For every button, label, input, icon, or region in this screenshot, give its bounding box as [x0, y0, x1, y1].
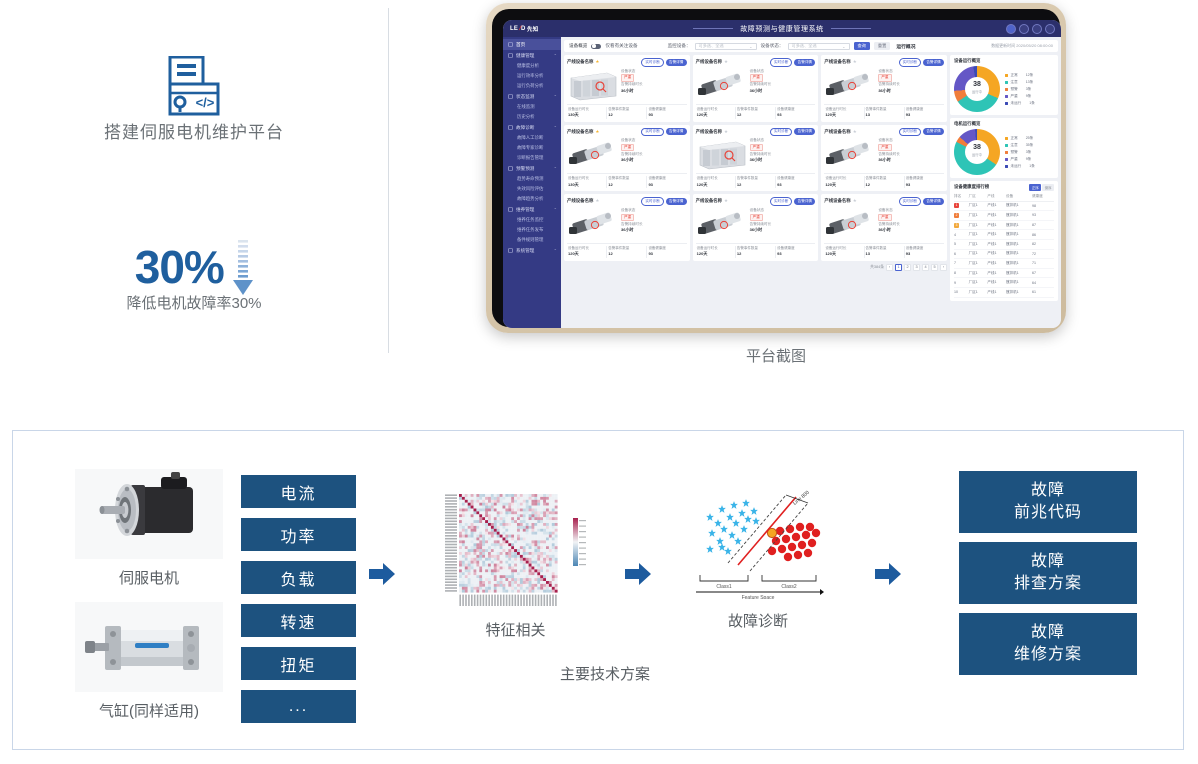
- ranking-column-header: 健康度: [1032, 193, 1054, 202]
- ranking-column-header: 排名: [954, 193, 969, 202]
- card-header: 产线设备名称★实时诊断告警详情: [696, 197, 816, 206]
- card-body: 设备状态严重告警持续时长36小时: [567, 208, 687, 241]
- sidebar-item-label: 健康管理: [516, 53, 534, 59]
- sidebar-item[interactable]: 维养管理⌃: [503, 204, 561, 215]
- status-label: 设备状态: [750, 138, 764, 142]
- card-status-meta: 设备状态严重告警持续时长36小时: [750, 138, 816, 171]
- duration-label: 告警持续时长: [750, 82, 772, 86]
- legend-label: 未运行: [1011, 101, 1022, 106]
- device-cell: 搅拌机1: [1006, 259, 1032, 269]
- user-icon[interactable]: [1006, 24, 1016, 34]
- title-rule-left: [693, 28, 733, 29]
- legend-swatch: [1005, 144, 1008, 147]
- panes: 产线设备名称★实时诊断告警详情设备状态严重告警持续时长36小时设备运行时长130…: [564, 55, 1058, 301]
- stage-label-1: 特征相关: [428, 619, 603, 640]
- line-cell: 产线1: [987, 201, 1006, 211]
- alarm-detail-button[interactable]: 告警详情: [666, 128, 687, 135]
- rank-cell: 5: [954, 239, 969, 249]
- table-row[interactable]: 9厂区1产线1搅拌机164: [954, 278, 1054, 288]
- duration-label: 告警持续时长: [621, 82, 643, 86]
- card-header: 产线设备名称★实时诊断告警详情: [824, 197, 944, 206]
- device-cell: 搅拌机1: [1006, 268, 1032, 278]
- runtime-value: 120天: [697, 251, 735, 257]
- realtime-diagnose-button[interactable]: 实时诊断: [770, 128, 792, 137]
- sidebar-item-label: 故障诊断: [516, 125, 534, 131]
- device-name: 产线设备名称: [824, 129, 850, 135]
- status-label: 设备状态: [621, 69, 635, 73]
- status-label: 设备状态: [878, 208, 892, 212]
- favorite-star-icon[interactable]: ★: [724, 129, 728, 135]
- favorite-star-icon[interactable]: ★: [724, 198, 728, 204]
- prev-page-button[interactable]: ‹: [886, 264, 893, 271]
- card-status-meta: 设备状态严重告警持续时长36小时: [878, 69, 944, 102]
- filter-toolbar[interactable]: 设备概览 仅看有关注设备 监控设备： 可多选、全选 ⌄ 设备状态：: [564, 40, 1058, 52]
- alarm-count-value: 12: [608, 182, 646, 188]
- alarm-count-value: 12: [737, 182, 775, 188]
- chevron-icon: ⌃: [554, 207, 557, 212]
- donut-row-2: 38 运行中 正常25条注意35条预警3条严重9条未运行1条: [954, 129, 1054, 175]
- equipment-label-2: 气缸(同样适用): [75, 700, 223, 721]
- signal-list: 电流功率负载转速扭矩...: [241, 475, 356, 723]
- card-status-meta: 设备状态严重告警持续时长36小时: [621, 208, 687, 241]
- duration-label: 告警持续时长: [878, 82, 900, 86]
- realtime-diagnose-button[interactable]: 实时诊断: [641, 128, 663, 137]
- card-body: 设备状态严重告警持续时长36小时: [824, 208, 944, 241]
- ranking-head-row: 排名厂区产线设备健康度: [954, 193, 1054, 202]
- header-icon-group[interactable]: [1006, 24, 1055, 34]
- legend-label: 预警: [1011, 150, 1018, 155]
- ranking-tab[interactable]: 倒序: [1042, 184, 1054, 191]
- sidebar-item-label: 维养管理: [516, 207, 534, 213]
- rank-cell: 3: [954, 220, 969, 230]
- health-cell: 设备健康度93: [647, 107, 686, 119]
- realtime-diagnose-button[interactable]: 实时诊断: [899, 128, 921, 137]
- health-cell: 设备健康度93: [776, 246, 815, 258]
- legend-swatch: [1005, 137, 1008, 140]
- app-title-wrap: 故障预测与健康管理系统: [503, 24, 1061, 34]
- legend-label: 正常: [1011, 73, 1018, 78]
- device-cell: 搅拌机1: [1006, 201, 1032, 211]
- device-name: 产线设备名称: [567, 59, 593, 65]
- area-cell: 厂区1: [969, 220, 988, 230]
- area-cell: 厂区1: [969, 211, 988, 221]
- app-body: 首页健康管理⌃健康度分析运行效率分析运行负荷分析状态监测⌃在线监测历史分析故障诊…: [503, 37, 1061, 328]
- signal-box: 功率: [241, 518, 356, 551]
- solution-caption: 主要技术方案: [560, 663, 650, 684]
- total-count: 共384条: [870, 265, 884, 270]
- duration-label: 告警持续时长: [750, 152, 772, 156]
- signal-box: 转速: [241, 604, 356, 637]
- duration-value: 36小时: [750, 157, 762, 162]
- alarm-count-value: 13: [866, 112, 904, 118]
- alarm-count-cell: 告警事件数量12: [736, 246, 776, 258]
- donut-center-number-1: 38: [954, 81, 1000, 89]
- legend-row: 预警3条: [1005, 149, 1035, 156]
- donut-legend-1: 正常12条注意13条预警3条严重9条未运行1条: [1005, 72, 1035, 107]
- chevron-down-icon: ⌄: [842, 44, 846, 49]
- status-filter-select[interactable]: 可多选、全选 ⌄: [788, 43, 850, 50]
- duration-value: 36小时: [750, 227, 762, 232]
- output-line-1: 故障: [1031, 622, 1065, 644]
- legend-value: 13条: [1026, 80, 1034, 85]
- table-row[interactable]: 3厂区1产线1搅拌机187: [954, 220, 1054, 230]
- sidebar-subitem[interactable]: 维养任务监控: [503, 215, 561, 225]
- status-badge: 严重: [750, 144, 763, 151]
- device-thumbnail: [824, 208, 876, 241]
- legend-swatch: [1005, 74, 1008, 77]
- signal-box: 扭矩: [241, 647, 356, 680]
- duration-value: 36小时: [878, 157, 890, 162]
- equipment-label-1: 伺服电机: [75, 567, 223, 588]
- card-body: 设备状态严重告警持续时长36小时: [696, 138, 816, 171]
- next-page-button[interactable]: ›: [940, 264, 947, 271]
- sidebar-item[interactable]: 故障诊断⌃: [503, 122, 561, 133]
- duration-label: 告警持续时长: [878, 152, 900, 156]
- legend-value: 1条: [1029, 101, 1035, 106]
- card-body: 设备状态严重告警持续时长36小时: [824, 138, 944, 171]
- duration-label: 告警持续时长: [621, 152, 643, 156]
- status-badge: 严重: [621, 74, 634, 81]
- legend-row: 严重9条: [1005, 156, 1035, 163]
- card-header: 产线设备名称★实时诊断告警详情: [567, 197, 687, 206]
- alarm-count-cell: 告警事件数量12: [865, 176, 905, 188]
- legend-value: 9条: [1026, 94, 1032, 99]
- rank-medal: 3: [954, 223, 959, 228]
- signal-box: 电流: [241, 475, 356, 508]
- chevron-icon: ⌃: [554, 94, 557, 99]
- legend-value: 12条: [1026, 73, 1034, 78]
- sidebar-subitem[interactable]: 故障人工诊断: [503, 133, 561, 143]
- alarm-detail-button[interactable]: 告警详情: [666, 59, 687, 66]
- runtime-cell: 设备运行时长120天: [824, 246, 864, 258]
- realtime-diagnose-button[interactable]: 实时诊断: [770, 58, 792, 67]
- rank-cell: 2: [954, 211, 969, 221]
- status-label: 设备状态: [621, 138, 635, 142]
- device-cell: 搅拌机1: [1006, 220, 1032, 230]
- legend-swatch: [1005, 151, 1008, 154]
- runtime-value: 130天: [568, 182, 606, 188]
- sidebar-item[interactable]: 预警预测⌃: [503, 163, 561, 174]
- legend-row: 正常12条: [1005, 72, 1035, 79]
- system-icon: [508, 248, 513, 253]
- area-cell: 厂区1: [969, 259, 988, 269]
- donut-row-1: 38 运行中 正常12条注意13条预警3条严重9条未运行1条: [954, 66, 1054, 112]
- card-footer: 设备运行时长120天告警事件数量12设备健康度93: [824, 173, 944, 188]
- runtime-value: 120天: [825, 182, 863, 188]
- alarm-count-cell: 告警事件数量13: [865, 107, 905, 119]
- legend-swatch: [1005, 158, 1008, 161]
- update-timestamp: 数据更新时间 2020/05/20 08:00:00: [991, 43, 1053, 49]
- alarm-detail-button[interactable]: 告警详情: [666, 198, 687, 205]
- device-card[interactable]: 产线设备名称★实时诊断告警详情设备状态严重告警持续时长36小时设备运行时长120…: [564, 194, 690, 261]
- duration-value: 36小时: [878, 88, 890, 93]
- servo-motor-photo: [75, 469, 223, 559]
- device-filter-value: 可多选、全选: [699, 43, 724, 49]
- bell-icon[interactable]: [1032, 24, 1042, 34]
- table-row[interactable]: 10厂区1产线1搅拌机161: [954, 287, 1054, 297]
- score-cell: 71: [1032, 259, 1054, 269]
- svg-text:Feature Space: Feature Space: [742, 595, 775, 599]
- favorite-star-icon[interactable]: ★: [853, 59, 857, 65]
- card-body: 设备状态严重告警持续时长36小时: [824, 69, 944, 102]
- status-badge: 严重: [878, 74, 891, 81]
- alarm-count-value: 12: [737, 251, 775, 257]
- table-row[interactable]: 8厂区1产线1搅拌机167: [954, 268, 1054, 278]
- area-cell: 厂区1: [969, 268, 988, 278]
- table-row[interactable]: 6厂区1产线1搅拌机172: [954, 249, 1054, 259]
- alarm-count-cell: 告警事件数量12: [607, 107, 647, 119]
- table-row[interactable]: 5厂区1产线1搅拌机182: [954, 239, 1054, 249]
- kpi-caption: 搭建伺服电机维护平台: [0, 118, 388, 143]
- runtime-cell: 设备运行时长120天: [567, 246, 607, 258]
- device-card[interactable]: 产线设备名称★实时诊断告警详情设备状态严重告警持续时长36小时设备运行时长120…: [821, 55, 947, 122]
- legend-row: 未运行1条: [1005, 100, 1035, 107]
- sidebar-subitem[interactable]: 历史分析: [503, 112, 561, 122]
- status-badge: 严重: [750, 74, 763, 81]
- alarm-detail-button[interactable]: 告警详情: [923, 128, 944, 135]
- svg-text:Class1: Class1: [716, 584, 732, 590]
- page-button[interactable]: 2: [904, 264, 911, 271]
- arrow-right-icon-1: [369, 563, 395, 585]
- alarm-detail-button[interactable]: 告警详情: [794, 59, 815, 66]
- page-button[interactable]: 3: [913, 264, 920, 271]
- legend-swatch: [1005, 81, 1008, 84]
- solution-diagram: 伺服电机 气缸(: [12, 430, 1184, 750]
- sidebar-subitem[interactable]: 诊断报告管理: [503, 153, 561, 163]
- search-button[interactable]: 查询: [854, 42, 870, 51]
- runtime-cell: 设备运行时长120天: [696, 107, 736, 119]
- sidebar-item[interactable]: 状态监测⌃: [503, 91, 561, 102]
- status-badge: 严重: [621, 144, 634, 151]
- duration-value: 36小时: [621, 157, 633, 162]
- card-footer: 设备运行时长120天告警事件数量12设备健康度93: [696, 173, 816, 188]
- sidebar-item[interactable]: 健康管理⌃: [503, 50, 561, 61]
- line-cell: 产线1: [987, 220, 1006, 230]
- card-status-meta: 设备状态严重告警持续时长36小时: [750, 69, 816, 102]
- legend-value: 9条: [1026, 157, 1032, 162]
- card-status-meta: 设备状态严重告警持续时长36小时: [878, 208, 944, 241]
- sidebar[interactable]: 首页健康管理⌃健康度分析运行效率分析运行负荷分析状态监测⌃在线监测历史分析故障诊…: [503, 37, 561, 328]
- rank-cell: 4: [954, 230, 969, 240]
- favorite-star-icon[interactable]: ★: [853, 129, 857, 135]
- toggle-label: 仅看有关注设备: [605, 43, 637, 49]
- status-filter-label: 设备状态：: [761, 43, 784, 49]
- alarm-count-cell: 告警事件数量13: [865, 246, 905, 258]
- device-filter-label: 监控设备：: [668, 43, 691, 49]
- legend-swatch: [1005, 95, 1008, 98]
- sidebar-item[interactable]: 系统管理⌃: [503, 245, 561, 256]
- line-cell: 产线1: [987, 287, 1006, 297]
- kpi-number: 30%: [135, 244, 224, 290]
- alarm-detail-button[interactable]: 告警详情: [794, 198, 815, 205]
- sidebar-item-label: 首页: [516, 42, 525, 48]
- sidebar-subitem[interactable]: 在线监测: [503, 102, 561, 112]
- donut-title-1: 设备运行概览: [954, 58, 1054, 64]
- realtime-diagnose-button[interactable]: 实时诊断: [770, 197, 792, 206]
- table-row[interactable]: 1厂区1产线1搅拌机198: [954, 201, 1054, 211]
- score-cell: 61: [1032, 287, 1054, 297]
- sidebar-subitem[interactable]: 备件规则管理: [503, 235, 561, 245]
- device-card[interactable]: 产线设备名称★实时诊断告警详情设备状态严重告警持续时长36小时设备运行时长130…: [564, 125, 690, 192]
- favorite-star-icon[interactable]: ★: [724, 59, 728, 65]
- title-rule-right: [831, 28, 871, 29]
- runtime-value: 120天: [825, 251, 863, 257]
- alarm-count-value: 12: [608, 251, 646, 257]
- sidebar-subitem[interactable]: 故障趋势分析: [503, 194, 561, 204]
- device-overview-donut[interactable]: 38 运行中: [954, 66, 1000, 112]
- sidebar-subitem[interactable]: 健康度分析: [503, 61, 561, 71]
- rank-medal: 2: [954, 213, 959, 218]
- legend-label: 注意: [1011, 143, 1018, 148]
- device-card[interactable]: 产线设备名称★实时诊断告警详情设备状态严重告警持续时长36小时设备运行时长120…: [693, 194, 819, 261]
- motor-overview-donut[interactable]: 38 运行中: [954, 129, 1000, 175]
- page-button[interactable]: 1: [895, 264, 902, 271]
- classification-scatter-block: Line 800Class1Class2Feature Space 故障诊断: [683, 489, 833, 631]
- correlation-heatmap: [441, 486, 591, 606]
- favorites-toggle[interactable]: [591, 44, 601, 49]
- reset-button[interactable]: 重置: [874, 42, 890, 51]
- health-value: 93: [906, 112, 944, 118]
- rank-cell: 1: [954, 201, 969, 211]
- alarm-detail-button[interactable]: 告警详情: [923, 198, 944, 205]
- output-box: 故障维修方案: [959, 613, 1137, 675]
- alarm-count-value: 12: [737, 112, 775, 118]
- duration-label: 告警持续时长: [878, 222, 900, 226]
- device-thumbnail: [567, 69, 619, 102]
- home-icon[interactable]: [1019, 24, 1029, 34]
- score-cell: 64: [1032, 278, 1054, 288]
- chevron-icon: ⌃: [554, 166, 557, 171]
- card-header: 产线设备名称★实时诊断告警详情: [567, 58, 687, 67]
- device-thumbnail: [696, 69, 748, 102]
- score-cell: 87: [1032, 220, 1054, 230]
- realtime-diagnose-button[interactable]: 实时诊断: [899, 58, 921, 67]
- device-name: 产线设备名称: [696, 198, 722, 204]
- sidebar-item-label: 预警预测: [516, 166, 534, 172]
- score-cell: 72: [1032, 249, 1054, 259]
- page-button[interactable]: 4: [922, 264, 929, 271]
- legend-row: 注意13条: [1005, 79, 1035, 86]
- right-pane: 设备运行概览 38 运行中: [950, 55, 1058, 301]
- line-cell: 产线1: [987, 259, 1006, 269]
- device-name: 产线设备名称: [824, 198, 850, 204]
- ranking-tab[interactable]: 正序: [1029, 184, 1041, 191]
- sidebar-item[interactable]: 首页: [503, 39, 561, 50]
- ranking-column-header: 设备: [1006, 193, 1032, 202]
- table-row[interactable]: 2厂区1产线1搅拌机193: [954, 211, 1054, 221]
- favorite-star-icon[interactable]: ★: [595, 59, 599, 65]
- alarm-count-cell: 告警事件数量12: [607, 176, 647, 188]
- status-badge: 严重: [878, 144, 891, 151]
- runtime-cell: 设备运行时长120天: [824, 107, 864, 119]
- page-button[interactable]: 5: [931, 264, 938, 271]
- sidebar-subitem[interactable]: 故障专家诊断: [503, 143, 561, 153]
- gear-icon[interactable]: [1045, 24, 1055, 34]
- alarm-count-value: 12: [866, 182, 904, 188]
- runtime-cell: 设备运行时长120天: [824, 176, 864, 188]
- health-cell: 设备健康度93: [905, 246, 944, 258]
- sidebar-subitem[interactable]: 维养任务发布: [503, 225, 561, 235]
- alarm-detail-button[interactable]: 告警详情: [923, 59, 944, 66]
- donut-center-number-2: 38: [954, 144, 1000, 152]
- runtime-value: 120天: [697, 182, 735, 188]
- warn-icon: [508, 166, 513, 171]
- device-card[interactable]: 产线设备名称★实时诊断告警详情设备状态严重告警持续时长36小时设备运行时长120…: [821, 125, 947, 192]
- device-card[interactable]: 产线设备名称★实时诊断告警详情设备状态严重告警持续时长36小时设备运行时长130…: [564, 55, 690, 122]
- alarm-detail-button[interactable]: 告警详情: [794, 128, 815, 135]
- favorite-star-icon[interactable]: ★: [595, 198, 599, 204]
- output-line-1: 故障: [1031, 480, 1065, 502]
- sidebar-item-label: 系统管理: [516, 248, 534, 254]
- line-cell: 产线1: [987, 230, 1006, 240]
- card-footer: 设备运行时长120天告警事件数量12设备健康度93: [567, 243, 687, 258]
- card-body: 设备状态严重告警持续时长36小时: [567, 138, 687, 171]
- correlation-heatmap-block: 特征相关: [428, 486, 603, 640]
- ranking-tabs[interactable]: 正序倒序: [1029, 184, 1054, 191]
- device-card[interactable]: 产线设备名称★实时诊断告警详情设备状态严重告警持续时长36小时设备运行时长120…: [693, 55, 819, 122]
- rank-cell: 10: [954, 287, 969, 297]
- line-cell: 产线1: [987, 239, 1006, 249]
- favorite-star-icon[interactable]: ★: [595, 129, 599, 135]
- legend-label: 正常: [1011, 136, 1018, 141]
- chevron-icon: ⌃: [554, 125, 557, 130]
- sidebar-subitem[interactable]: 趋势寿命预测: [503, 174, 561, 184]
- health-value: 93: [648, 251, 686, 257]
- poster-page: </> 搭建伺服电机维护平台 30%: [0, 0, 1198, 764]
- health-value: 93: [648, 112, 686, 118]
- realtime-diagnose-button[interactable]: 实时诊断: [641, 197, 663, 206]
- table-row[interactable]: 7厂区1产线1搅拌机171: [954, 259, 1054, 269]
- ranking-table: 排名厂区产线设备健康度 1厂区1产线1搅拌机1982厂区1产线1搅拌机1933厂…: [954, 193, 1054, 298]
- runtime-cell: 设备运行时长120天: [696, 246, 736, 258]
- device-thumbnail: [824, 138, 876, 171]
- equipment-column: 伺服电机 气缸(: [75, 469, 223, 721]
- card-footer: 设备运行时长120天告警事件数量13设备健康度93: [824, 104, 944, 119]
- output-line-2: 前兆代码: [1014, 502, 1082, 524]
- device-filter-select[interactable]: 可多选、全选 ⌄: [695, 43, 757, 50]
- health-cell: 设备健康度93: [647, 176, 686, 188]
- device-thumbnail: [696, 208, 748, 241]
- sidebar-subitem[interactable]: 失效风险评估: [503, 184, 561, 194]
- sidebar-item-label: 状态监测: [516, 94, 534, 100]
- device-cell: 搅拌机1: [1006, 211, 1032, 221]
- output-line-1: 故障: [1031, 551, 1065, 573]
- legend-row: 预警3条: [1005, 86, 1035, 93]
- realtime-diagnose-button[interactable]: 实时诊断: [899, 197, 921, 206]
- sidebar-subitem[interactable]: 运行效率分析: [503, 71, 561, 81]
- score-cell: 98: [1032, 201, 1054, 211]
- sidebar-subitem[interactable]: 运行负荷分析: [503, 81, 561, 91]
- favorite-star-icon[interactable]: ★: [853, 198, 857, 204]
- card-footer: 设备运行时长120天告警事件数量12设备健康度93: [696, 104, 816, 119]
- legend-value: 3条: [1026, 150, 1032, 155]
- realtime-diagnose-button[interactable]: 实时诊断: [641, 58, 663, 67]
- ranking-column-header: 厂区: [969, 193, 988, 202]
- table-row[interactable]: 4厂区1产线1搅拌机186: [954, 230, 1054, 240]
- runtime-cell: 设备运行时长130天: [567, 107, 607, 119]
- classification-scatter: Line 800Class1Class2Feature Space: [692, 489, 824, 599]
- rank-cell: 7: [954, 259, 969, 269]
- device-card[interactable]: 产线设备名称★实时诊断告警详情设备状态严重告警持续时长36小时设备运行时长120…: [693, 125, 819, 192]
- rank-cell: 6: [954, 249, 969, 259]
- pagination[interactable]: 共384条‹12345›: [564, 264, 947, 271]
- stage-label-2: 故障诊断: [683, 610, 833, 631]
- card-header: 产线设备名称★实时诊断告警详情: [696, 128, 816, 137]
- card-footer: 设备运行时长130天告警事件数量12设备健康度93: [567, 104, 687, 119]
- device-card[interactable]: 产线设备名称★实时诊断告警详情设备状态严重告警持续时长36小时设备运行时长120…: [821, 194, 947, 261]
- pneumatic-cylinder-photo: [75, 602, 223, 692]
- output-list: 故障前兆代码故障排查方案故障维修方案: [959, 471, 1137, 675]
